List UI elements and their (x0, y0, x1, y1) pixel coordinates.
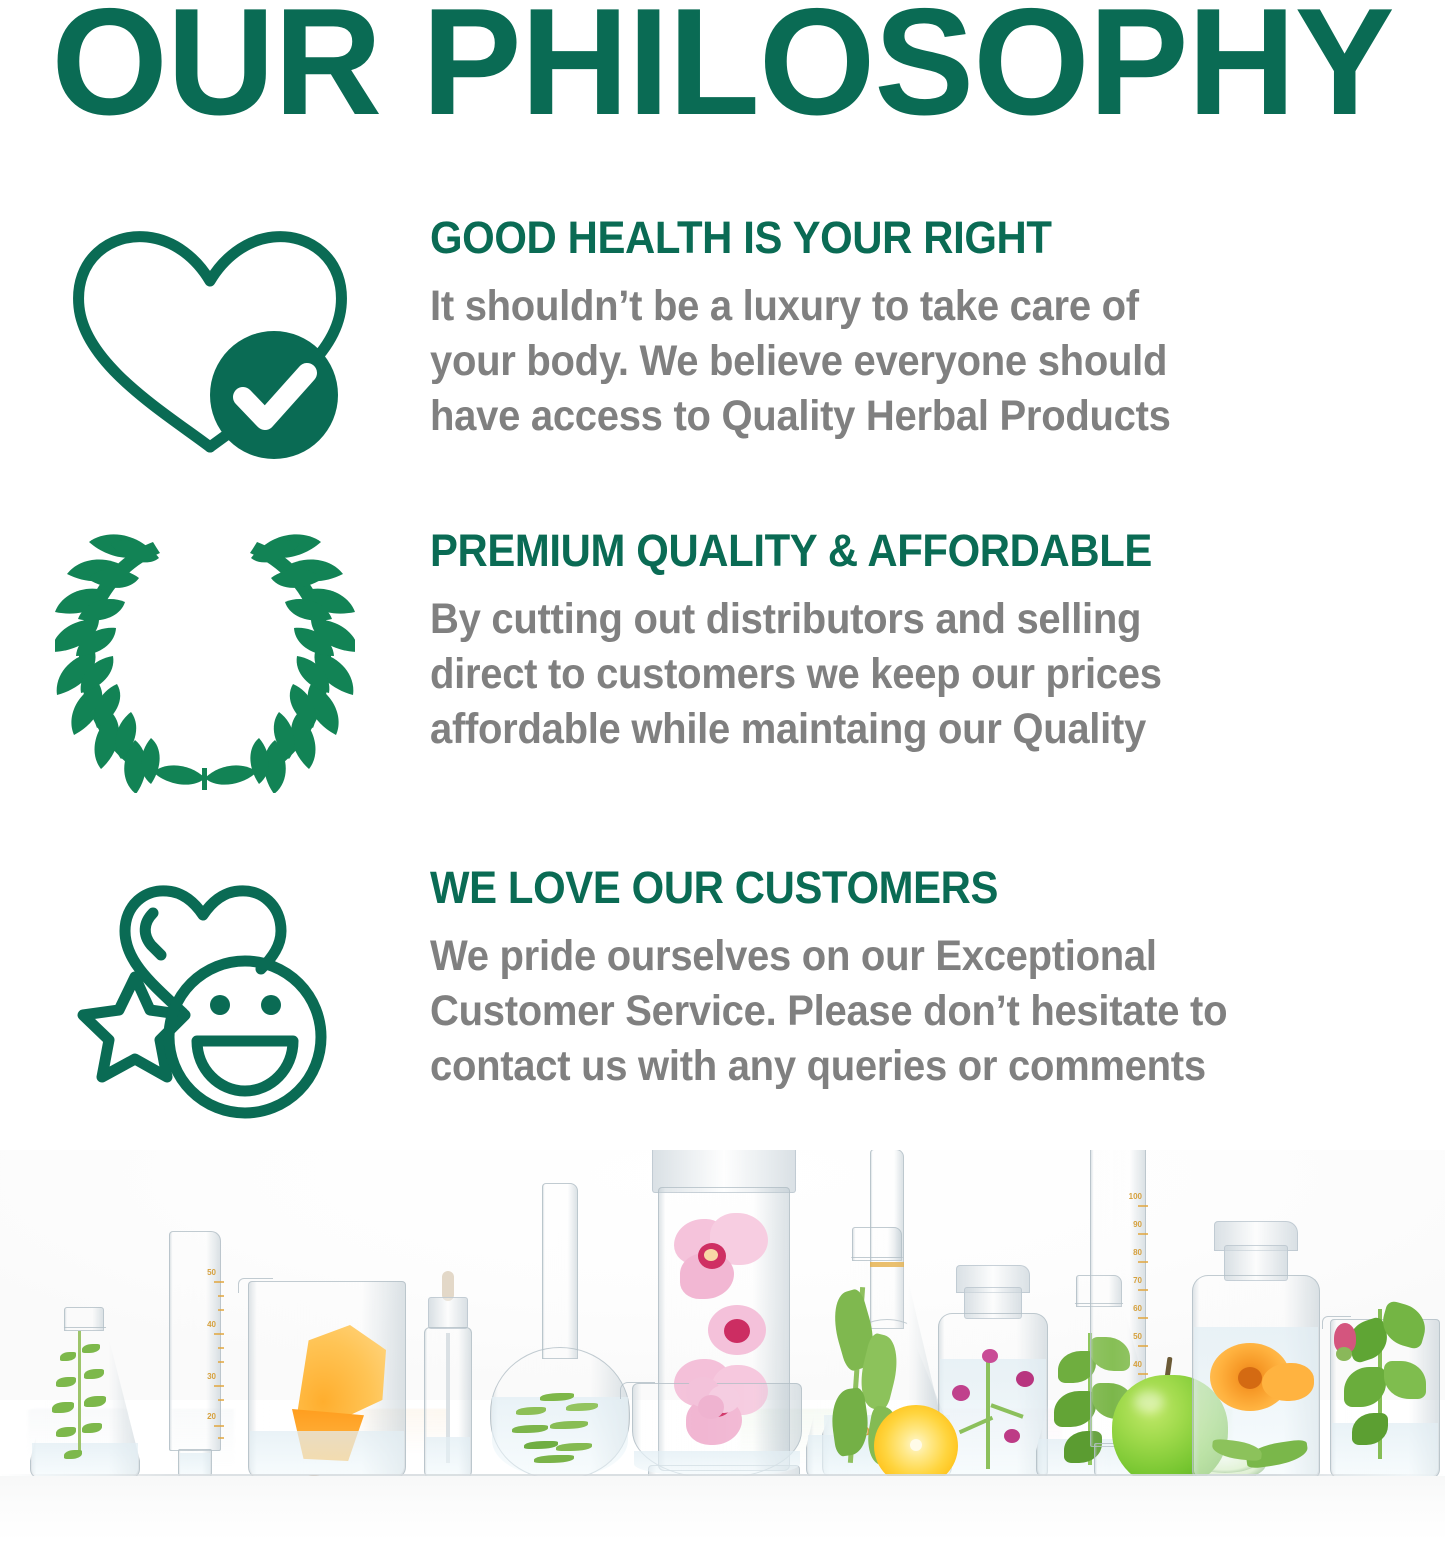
feature-body: It shouldn’t be a luxury to take care of… (430, 279, 1388, 444)
lab-glassware-photo: 50 40 30 20 (0, 1150, 1445, 1541)
feature-body-line: It shouldn’t be a luxury to take care of (430, 279, 1388, 334)
heart-check-icon (55, 215, 355, 480)
graduated-cylinder: 50 40 30 20 (160, 1231, 230, 1479)
feature-body: We pride ourselves on our Exceptional Cu… (430, 929, 1388, 1094)
feature-text-we-love-customers: WE LOVE OUR CUSTOMERS We pride ourselves… (430, 865, 1390, 1094)
feature-text-premium-quality: PREMIUM QUALITY & AFFORDABLE By cutting … (430, 528, 1390, 757)
feature-text-good-health: GOOD HEALTH IS YOUR RIGHT It shouldn’t b… (430, 215, 1390, 444)
heart-star-smiley-icon (55, 865, 355, 1130)
shelf-surface (0, 1476, 1445, 1541)
feature-body: By cutting out distributors and selling … (430, 592, 1388, 757)
feature-heading: WE LOVE OUR CUSTOMERS (430, 865, 1323, 911)
feature-body-line: We pride ourselves on our Exceptional (430, 929, 1388, 984)
feature-heading: GOOD HEALTH IS YOUR RIGHT (430, 215, 1323, 261)
feature-body-line: direct to customers we keep our prices (430, 647, 1388, 702)
beaker-with-orange-slice (248, 1259, 406, 1479)
laurel-wreath-icon (55, 528, 355, 793)
feature-body-line: By cutting out distributors and selling (430, 592, 1388, 647)
mortar-with-flower (632, 1371, 802, 1479)
feature-body-line: Customer Service. Please don’t hesitate … (430, 984, 1388, 1039)
feature-body-line: have access to Quality Herbal Products (430, 389, 1388, 444)
feature-body-line: affordable while maintaing our Quality (430, 702, 1388, 757)
beaker-with-rose-sprig (1330, 1301, 1440, 1479)
volumetric-flask-with-rosemary (490, 1183, 630, 1479)
feature-body-line: contact us with any queries or comments (430, 1039, 1388, 1094)
page-title: OUR PHILOSOPHY (11, 0, 1434, 138)
feature-heading: PREMIUM QUALITY & AFFORDABLE (430, 528, 1323, 574)
erlenmeyer-flask-with-thyme (30, 1309, 140, 1479)
reagent-bottle-with-marigold (1192, 1199, 1320, 1479)
philosophy-infographic: OUR PHILOSOPHY GOOD HEALTH IS YOUR RIGHT… (0, 0, 1445, 1541)
dropper-bottle (418, 1271, 478, 1479)
feature-body-line: your body. We believe everyone should (430, 334, 1388, 389)
